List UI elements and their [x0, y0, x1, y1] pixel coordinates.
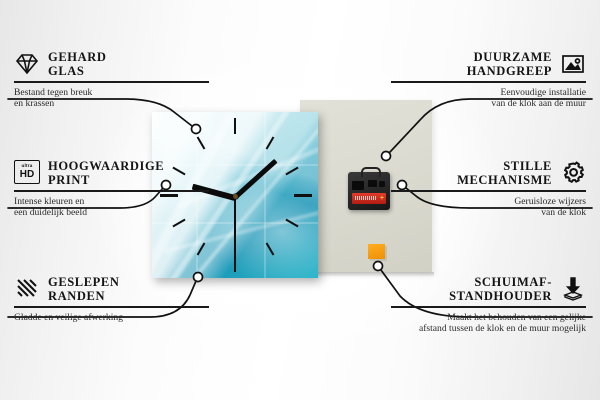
down-arrow-pad-icon [560, 276, 586, 302]
feature-title-line2: MECHANISME [457, 173, 552, 187]
feature-title-line2: RANDEN [48, 289, 105, 303]
feature-title-line2: STANDHOUDER [449, 289, 552, 303]
feature-title-line2: HANDGREEP [467, 64, 552, 78]
feature-title-line1: DUURZAME [474, 50, 552, 64]
feature-desc-line2: een duidelijk beeld [14, 207, 87, 218]
feature-desc-line1: Geruisloze wijzers [514, 196, 586, 207]
feature-divider [391, 190, 586, 192]
feature-divider [14, 306, 209, 308]
feature-title-line1: HOOGWAARDIGE [48, 159, 164, 173]
feature-divider [14, 190, 209, 192]
ultra-hd-large-text: HD [20, 170, 34, 180]
feature-title-line2: GLAS [48, 64, 84, 78]
picture-frame-icon [560, 51, 586, 77]
feature-divider [391, 81, 586, 83]
connector-dot-schuimaf-standhouder [374, 262, 383, 271]
connector-dot-duurzame-handgreep [382, 152, 391, 161]
feature-desc-line2: van de klok [541, 207, 586, 218]
feature-title-line1: GEHARD [48, 50, 106, 64]
feature-title-line1: GESLEPEN [48, 275, 120, 289]
feature-schuimaf-standhouder: SCHUIMAF- STANDHOUDER Maakt het behouden… [391, 275, 586, 335]
feature-desc-line1: Bestand tegen breuk [14, 87, 92, 98]
feature-desc-line1: Eenvoudige installatie [500, 87, 586, 98]
feature-desc-line1: Intense kleuren en [14, 196, 84, 207]
feature-divider [14, 81, 209, 83]
feature-gehard-glas: GEHARD GLAS Bestand tegen breuk en krass… [14, 50, 209, 110]
feature-title-line2: PRINT [48, 173, 90, 187]
feature-desc-line2: en krassen [14, 98, 54, 109]
feature-stille-mechanisme: STILLE MECHANISME Geruisloze wijzers van… [391, 159, 586, 219]
gear-icon [560, 160, 586, 186]
feature-desc-line1: Maakt het behouden van een gelijke [447, 312, 586, 323]
feature-desc-line2: afstand tussen de klok en de muur mogeli… [419, 323, 586, 334]
feature-title-line1: STILLE [503, 159, 552, 173]
feature-title-line1: SCHUIMAF- [474, 275, 552, 289]
diamond-icon [14, 51, 40, 77]
feature-duurzame-handgreep: DUURZAME HANDGREEP Eenvoudige installati… [391, 50, 586, 110]
feature-desc-line2: van de klok aan de muur [491, 98, 586, 109]
feature-desc-line1: Gladde en veilige afwerking [14, 312, 123, 323]
infographic-canvas: + GEHARD GLAS [0, 0, 600, 400]
diagonal-lines-icon [14, 276, 40, 302]
feature-hoogwaardige-print: ultra HD HOOGWAARDIGE PRINT Intense kleu… [14, 159, 209, 219]
ultra-hd-icon: ultra HD [14, 160, 40, 186]
feature-geslepen-randen: GESLEPEN RANDEN Gladde en veilige afwerk… [14, 275, 209, 323]
feature-divider [391, 306, 586, 308]
connector-dot-gehard-glas [192, 125, 201, 134]
